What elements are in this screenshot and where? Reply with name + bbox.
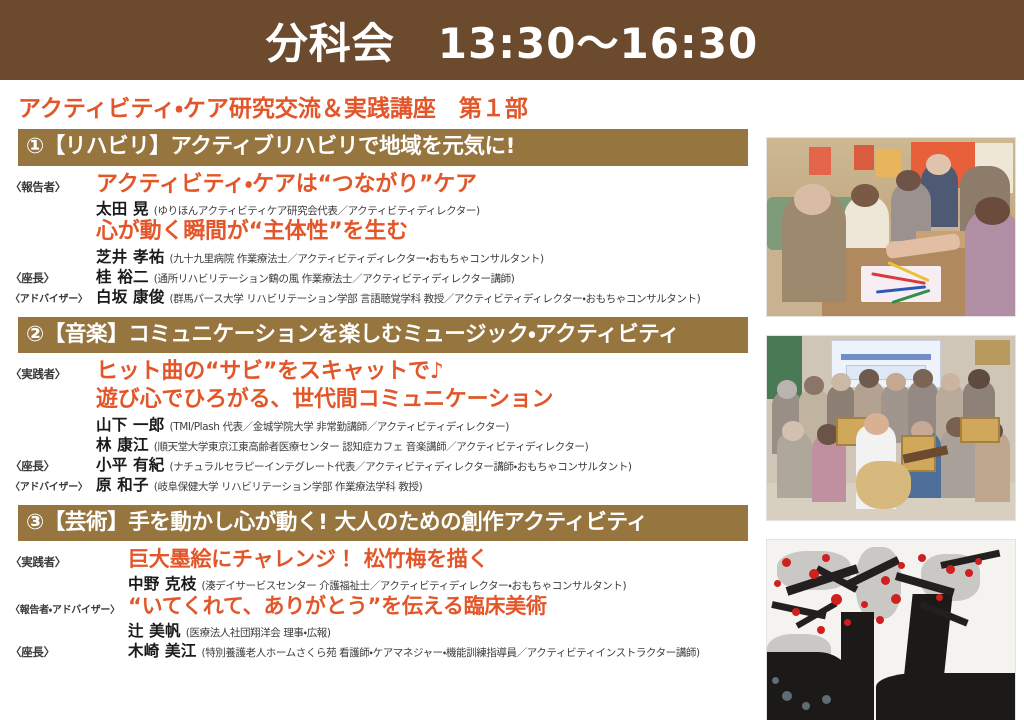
- chair-name: 木崎 美江: [128, 642, 196, 660]
- topic-text: 心が動く瞬間が“主体性”を生む: [96, 219, 408, 247]
- advisor-affiliation: (岐阜保健大学 リハビリテーション学部 作業療法学科 教授): [154, 481, 423, 493]
- role-label: 〈報告者〉: [10, 181, 96, 195]
- role-label: 〈報告者・アドバイザー〉: [10, 605, 128, 617]
- speaker-entry: 中野 克枝 (湊デイサービスセンター 介護福祉士／アクティビティディレクター・お…: [128, 575, 626, 594]
- sessions-column: ①【リハビリ】アクティブリハビリで地域を元気に! 〈報告者〉 アクティビティ・ケ…: [0, 129, 766, 720]
- topic-text: アクティビティ・ケアは“つながり”ケア: [96, 172, 477, 200]
- role-label: 〈アドバイザー〉: [10, 294, 96, 306]
- speaker-name: 太田 晃: [96, 200, 149, 218]
- row-speaker: 〈実践者〉 山下 一郎 (TMI/Plash 代表／金城学院大学 非常勤講師／ア…: [10, 416, 766, 435]
- topic-text: “いてくれて、ありがとう”を伝える臨床美術: [128, 594, 547, 621]
- session-2-heading: ②【音楽】コミュニケーションを楽しむミュージック・アクティビティ: [18, 317, 748, 354]
- topic-text: 巨大墨絵にチャレンジ！ 松竹梅を描く: [128, 547, 489, 574]
- speaker-name: 辻 美帆: [128, 622, 181, 640]
- role-label: 〈座長〉: [10, 646, 128, 660]
- chair-entry: 小平 有紀 (ナチュラルセラピーインテグレート代表／アクティビティディレクター講…: [96, 456, 632, 475]
- chair-name: 小平 有紀: [96, 456, 164, 474]
- topic-text: 遊び心でひろがる、世代間コミュニケーション: [96, 387, 553, 415]
- session-2: ②【音楽】コミュニケーションを楽しむミュージック・アクティビティ 〈実践者〉 ヒ…: [0, 317, 766, 495]
- row-practitioner-topic: 〈実践者〉 ヒット曲の“サビ”をスキャットで♪: [10, 359, 766, 387]
- advisor-affiliation: (群馬パース大学 リハビリテーション学部 言語聴覚学科 教授／アクティビティディ…: [170, 293, 701, 305]
- speaker-affiliation: (ゆりほんアクティビティケア研究会代表／アクティビティディレクター): [154, 205, 480, 217]
- session-1-heading: ①【リハビリ】アクティブリハビリで地域を元気に!: [18, 129, 748, 166]
- program-page: 分科会 13:30〜16:30 アクティビティ・ケア研究交流＆実践講座 第１部 …: [0, 0, 1024, 720]
- chair-affiliation: (通所リハビリテーション鶴の風 作業療法士／アクティビティディレクター講師): [154, 273, 515, 285]
- row-speaker: 〈報告者〉 太田 晃 (ゆりほんアクティビティケア研究会代表／アクティビティディ…: [10, 200, 766, 219]
- program-title: アクティビティ・ケア研究交流＆実践講座 第１部: [0, 80, 1024, 129]
- speaker-affiliation: (TMI/Plash 代表／金城学院大学 非常勤講師／アクティビティディレクター…: [170, 421, 509, 433]
- advisor-name: 原 和子: [96, 476, 149, 494]
- speaker-name: 芝井 孝祐: [96, 248, 164, 266]
- row-advisor: 〈アドバイザー〉 原 和子 (岐阜保健大学 リハビリテーション学部 作業療法学科…: [10, 476, 766, 495]
- row-speaker: 〈報告者〉 芝井 孝祐 (九十九里病院 作業療法士／アクティビティディレクター・…: [10, 248, 766, 267]
- session-1: ①【リハビリ】アクティブリハビリで地域を元気に! 〈報告者〉 アクティビティ・ケ…: [0, 129, 766, 307]
- session-2-rows: 〈実践者〉 ヒット曲の“サビ”をスキャットで♪ 〈実践者〉 遊び心でひろがる、世…: [0, 359, 766, 494]
- row-reporter-advisor-topic: 〈報告者・アドバイザー〉 “いてくれて、ありがとう”を伝える臨床美術: [10, 594, 766, 621]
- role-label: 〈座長〉: [10, 272, 96, 286]
- banner-title: 分科会 13:30〜16:30: [266, 10, 758, 71]
- row-chair: 〈座長〉 木崎 美江 (特別養護老人ホームさくら苑 看護師・ケアマネジャー・機能…: [10, 642, 766, 661]
- page-banner: 分科会 13:30〜16:30: [0, 0, 1024, 80]
- speaker-entry: 太田 晃 (ゆりほんアクティビティケア研究会代表／アクティビティディレクター): [96, 200, 480, 219]
- session-3-heading: ③【芸術】手を動かし心が動く! 大人のための創作アクティビティ: [18, 505, 748, 542]
- row-reporter-topic: 〈報告者〉 アクティビティ・ケアは“つながり”ケア: [10, 172, 766, 200]
- chair-affiliation: (ナチュラルセラピーインテグレート代表／アクティビティディレクター講師・おもちゃ…: [170, 461, 632, 473]
- row-advisor: 〈アドバイザー〉 白坂 康俊 (群馬パース大学 リハビリテーション学部 言語聴覚…: [10, 288, 766, 307]
- session-1-photo: [766, 137, 1016, 317]
- session-1-rows: 〈報告者〉 アクティビティ・ケアは“つながり”ケア 〈報告者〉 太田 晃 (ゆり…: [0, 172, 766, 307]
- speaker-affiliation: (九十九里病院 作業療法士／アクティビティディレクター・おもちゃコンサルタント): [170, 253, 544, 265]
- speaker-entry: 辻 美帆 (医療法人社団翔洋会 理事・広報): [128, 622, 331, 641]
- chair-entry: 木崎 美江 (特別養護老人ホームさくら苑 看護師・ケアマネジャー・機能訓練指導員…: [128, 642, 700, 661]
- row-chair: 〈座長〉 桂 裕二 (通所リハビリテーション鶴の風 作業療法士／アクティビティデ…: [10, 268, 766, 287]
- row-topic-2: 〈実践者〉 遊び心でひろがる、世代間コミュニケーション: [10, 387, 766, 415]
- role-label: 〈実践者〉: [10, 556, 128, 570]
- row-practitioner-topic: 〈実践者〉 巨大墨絵にチャレンジ！ 松竹梅を描く: [10, 547, 766, 574]
- role-label: 〈座長〉: [10, 460, 96, 474]
- row-speaker: 〈実践者〉 林 康江 (順天堂大学東京江東高齢者医療センター 認知症カフェ 音楽…: [10, 436, 766, 455]
- session-2-photo: [766, 335, 1016, 521]
- speaker-affiliation: (医療法人社団翔洋会 理事・広報): [186, 627, 331, 639]
- speaker-name: 林 康江: [96, 436, 149, 454]
- speaker-affiliation: (順天堂大学東京江東高齢者医療センター 認知症カフェ 音楽講師／アクティビティデ…: [154, 441, 589, 453]
- speaker-entry: 芝井 孝祐 (九十九里病院 作業療法士／アクティビティディレクター・おもちゃコン…: [96, 248, 544, 267]
- row-speaker: 〈実践者〉 中野 克枝 (湊デイサービスセンター 介護福祉士／アクティビティディ…: [10, 575, 766, 594]
- speaker-entry: 山下 一郎 (TMI/Plash 代表／金城学院大学 非常勤講師／アクティビティ…: [96, 416, 509, 435]
- advisor-entry: 原 和子 (岐阜保健大学 リハビリテーション学部 作業療法学科 教授): [96, 476, 422, 495]
- row-speaker: 〈実践者〉 辻 美帆 (医療法人社団翔洋会 理事・広報): [10, 622, 766, 641]
- session-3-photo: [766, 539, 1016, 720]
- advisor-entry: 白坂 康俊 (群馬パース大学 リハビリテーション学部 言語聴覚学科 教授／アクテ…: [96, 288, 700, 307]
- photos-column: [766, 129, 1024, 720]
- content-area: ①【リハビリ】アクティブリハビリで地域を元気に! 〈報告者〉 アクティビティ・ケ…: [0, 129, 1024, 720]
- role-label: 〈アドバイザー〉: [10, 482, 96, 494]
- advisor-name: 白坂 康俊: [96, 288, 164, 306]
- chair-affiliation: (特別養護老人ホームさくら苑 看護師・ケアマネジャー・機能訓練指導員／アクティビ…: [202, 647, 700, 659]
- speaker-name: 山下 一郎: [96, 416, 164, 434]
- chair-entry: 桂 裕二 (通所リハビリテーション鶴の風 作業療法士／アクティビティディレクター…: [96, 268, 514, 287]
- row-chair: 〈座長〉 小平 有紀 (ナチュラルセラピーインテグレート代表／アクティビティディ…: [10, 456, 766, 475]
- speaker-entry: 林 康江 (順天堂大学東京江東高齢者医療センター 認知症カフェ 音楽講師／アクテ…: [96, 436, 588, 455]
- speaker-affiliation: (湊デイサービスセンター 介護福祉士／アクティビティディレクター・おもちゃコンサ…: [202, 580, 627, 592]
- topic-text: ヒット曲の“サビ”をスキャットで♪: [96, 359, 444, 387]
- session-3-rows: 〈実践者〉 巨大墨絵にチャレンジ！ 松竹梅を描く 〈実践者〉 中野 克枝 (湊デ…: [0, 547, 766, 660]
- row-topic-2: 〈報告者〉 心が動く瞬間が“主体性”を生む: [10, 219, 766, 247]
- chair-name: 桂 裕二: [96, 268, 149, 286]
- speaker-name: 中野 克枝: [128, 575, 196, 593]
- role-label: 〈実践者〉: [10, 368, 96, 382]
- session-3: ③【芸術】手を動かし心が動く! 大人のための創作アクティビティ 〈実践者〉 巨大…: [0, 505, 766, 661]
